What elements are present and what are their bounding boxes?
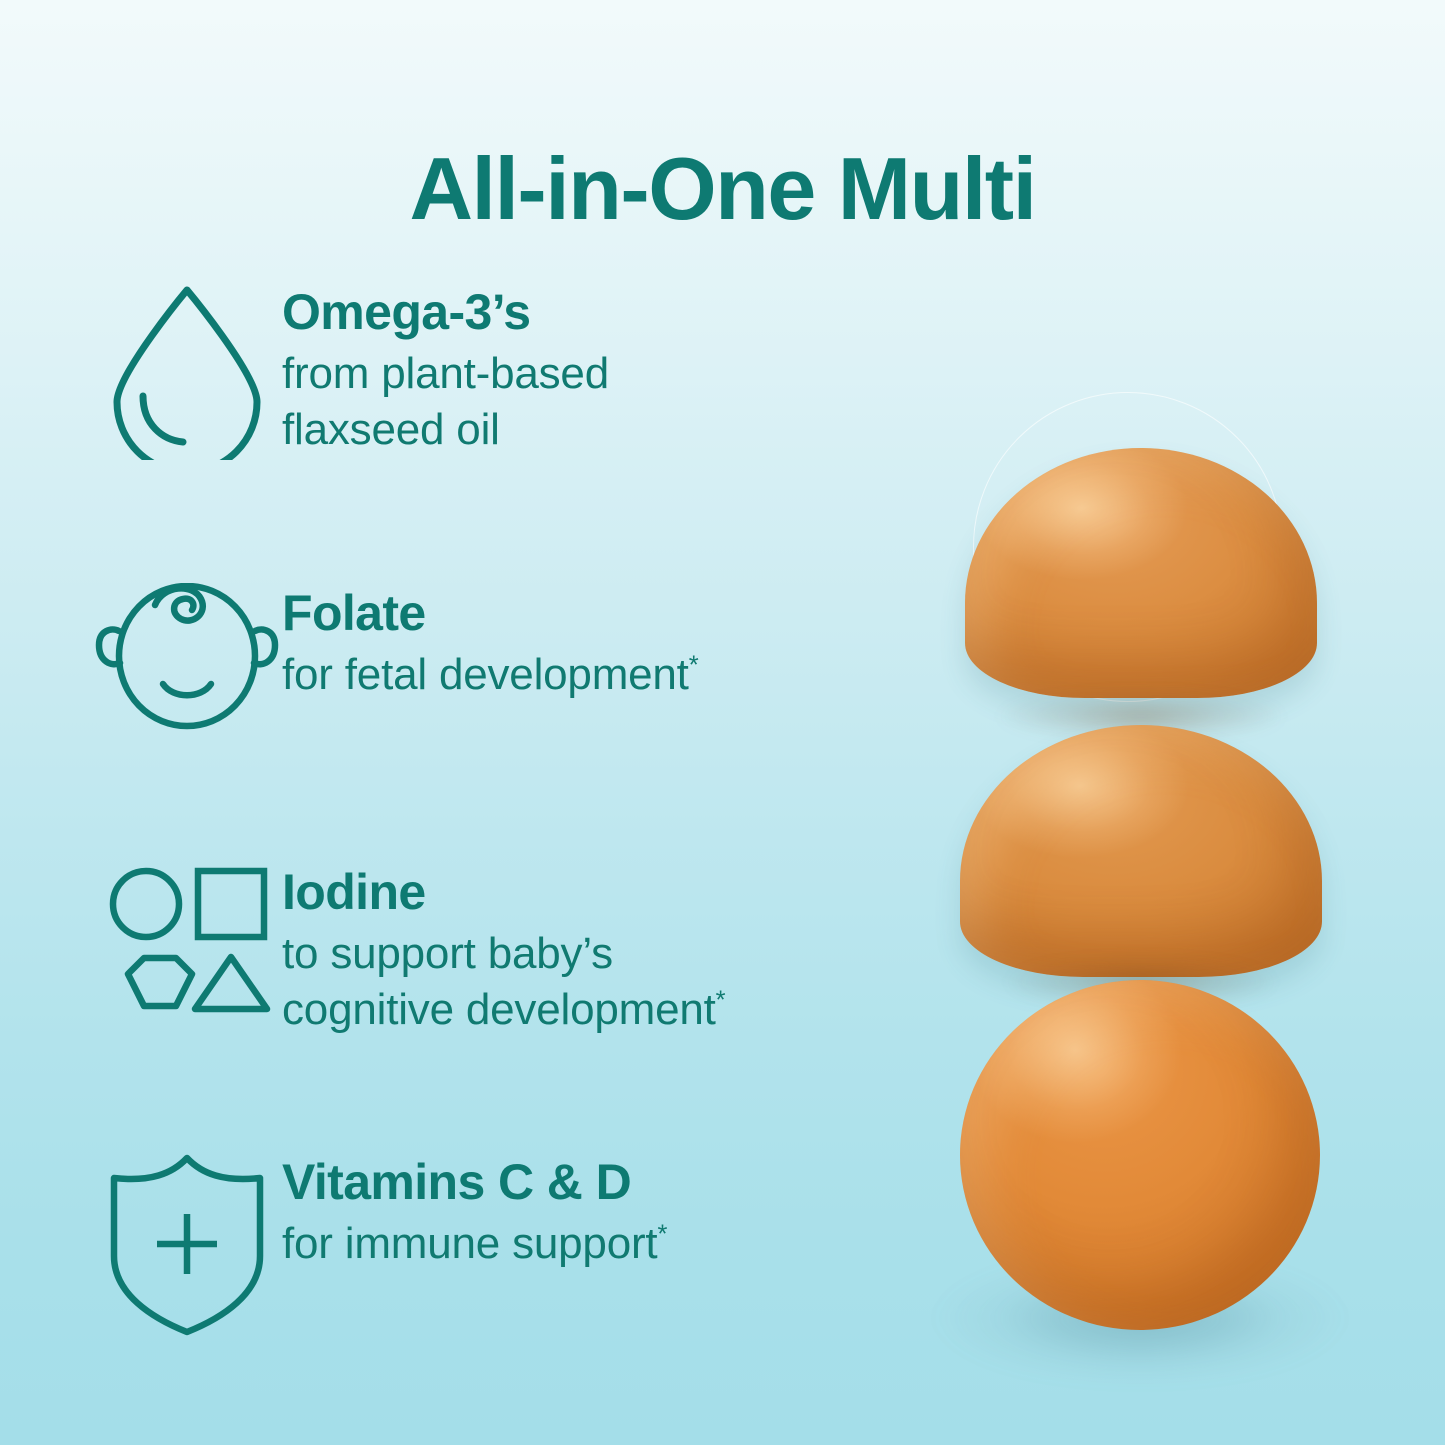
feature-description: for fetal development* xyxy=(282,647,932,703)
feature-description-line-1: for fetal development xyxy=(282,650,689,699)
shapes-grid-icon xyxy=(92,862,282,1032)
feature-text-iodine: Iodine to support baby’scognitive develo… xyxy=(282,862,932,1039)
footnote-marker: * xyxy=(657,1220,667,1248)
feature-item-vitamins-c-d: Vitamins C & D for immune support* xyxy=(92,1152,932,1338)
feature-title: Vitamins C & D xyxy=(282,1154,932,1210)
feature-text-omega-3: Omega-3’s from plant-based flaxseed oil xyxy=(282,282,892,459)
feature-description-line-1: for immune support xyxy=(282,1219,657,1268)
footnote-marker: * xyxy=(716,987,726,1015)
feature-text-folate: Folate for fetal development* xyxy=(282,583,932,703)
feature-list: Omega-3’s from plant-based flaxseed oil xyxy=(0,0,940,1445)
feature-description: from plant-based flaxseed oil xyxy=(282,346,892,459)
feature-description-line-1: to support baby’s xyxy=(282,929,613,978)
baby-face-icon xyxy=(92,583,282,733)
feature-description-line-2: flaxseed oil xyxy=(282,405,500,454)
feature-item-folate: Folate for fetal development* xyxy=(92,583,932,733)
water-drop-icon xyxy=(92,282,282,460)
gummy-dome-middle xyxy=(960,725,1322,977)
feature-item-iodine: Iodine to support baby’scognitive develo… xyxy=(92,862,932,1039)
feature-description: to support baby’scognitive development* xyxy=(282,926,932,1039)
feature-title: Folate xyxy=(282,585,932,641)
footnote-marker: * xyxy=(689,651,699,679)
feature-text-vitamins-c-d: Vitamins C & D for immune support* xyxy=(282,1152,932,1272)
gummy-stack-image xyxy=(925,390,1355,1370)
feature-description-line-2: cognitive development xyxy=(282,985,716,1034)
product-feature-graphic: All-in-One Multi Omega-3’s from plant-ba… xyxy=(0,0,1445,1445)
gummy-sphere-bottom xyxy=(960,980,1320,1330)
shield-plus-icon xyxy=(92,1152,282,1338)
feature-title: Iodine xyxy=(282,864,932,920)
feature-item-omega-3: Omega-3’s from plant-based flaxseed oil xyxy=(92,282,892,460)
feature-title: Omega-3’s xyxy=(282,284,892,340)
feature-description: for immune support* xyxy=(282,1216,932,1272)
feature-description-line-1: from plant-based xyxy=(282,349,609,398)
